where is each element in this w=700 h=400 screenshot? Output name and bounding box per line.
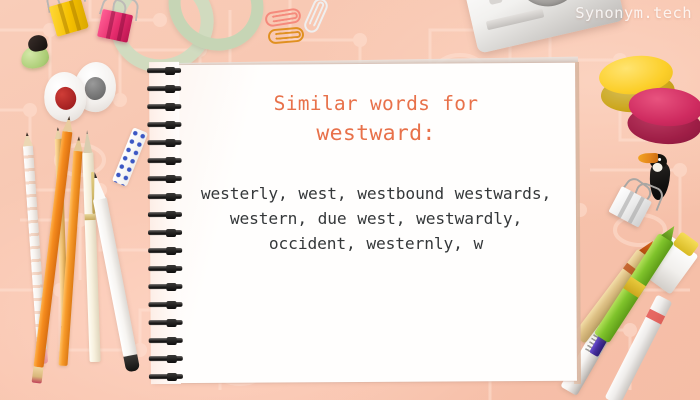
paper-clip-orange-icon xyxy=(267,26,304,44)
bird-eraser-green-icon xyxy=(15,33,55,73)
synonyms-list-text: westerly, west, westbound westwards, wes… xyxy=(186,182,566,256)
macaron-pink-icon xyxy=(626,85,700,148)
notepad-text-block: Similar words for westward: westerly, we… xyxy=(186,92,566,256)
oval-eraser-red-icon xyxy=(41,69,90,124)
page-title-query-word: westward: xyxy=(186,119,566,148)
screenshot-stage: Similar words for westward: westerly, we… xyxy=(0,0,700,400)
site-logo-watermark: Synonym.tech xyxy=(575,4,692,22)
page-title-line-1: Similar words for xyxy=(186,92,566,116)
